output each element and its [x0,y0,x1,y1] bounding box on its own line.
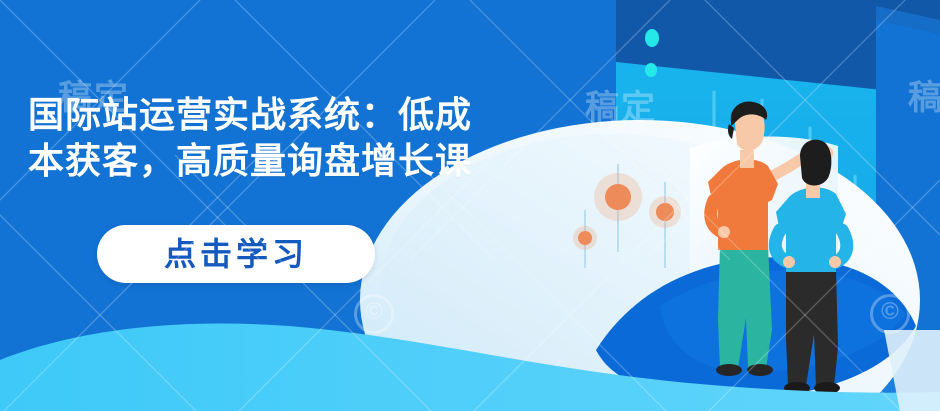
person-left-shoe-2 [747,364,773,376]
bubble-core-1 [605,184,631,210]
person-left-neck [740,150,754,168]
person-left-hand-hip [718,226,730,238]
dot-cyan-1 [645,29,659,47]
person-right-head-hair [800,140,831,186]
title-line-1: 国际站运营实战系统：低成 [28,92,628,138]
illustration-artwork [0,0,940,411]
bubble-core-3 [578,231,592,245]
person-right-hand-2 [829,256,841,268]
title-line-2: 本获客，高质量询盘增长课 [28,138,628,184]
person-left-shoe-1 [716,364,742,376]
bubble-core-2 [656,203,674,221]
promo-banner: 国际站运营实战系统：低成 本获客，高质量询盘增长课 点击学习 稿定 稿定 稿定 [0,0,940,411]
cta-button-label: 点击学习 [164,238,308,270]
click-to-learn-button[interactable]: 点击学习 [97,225,375,283]
person-right-hand-1 [783,256,795,268]
dot-cyan-2 [645,63,657,77]
page-title: 国际站运营实战系统：低成 本获客，高质量询盘增长课 [28,92,628,184]
